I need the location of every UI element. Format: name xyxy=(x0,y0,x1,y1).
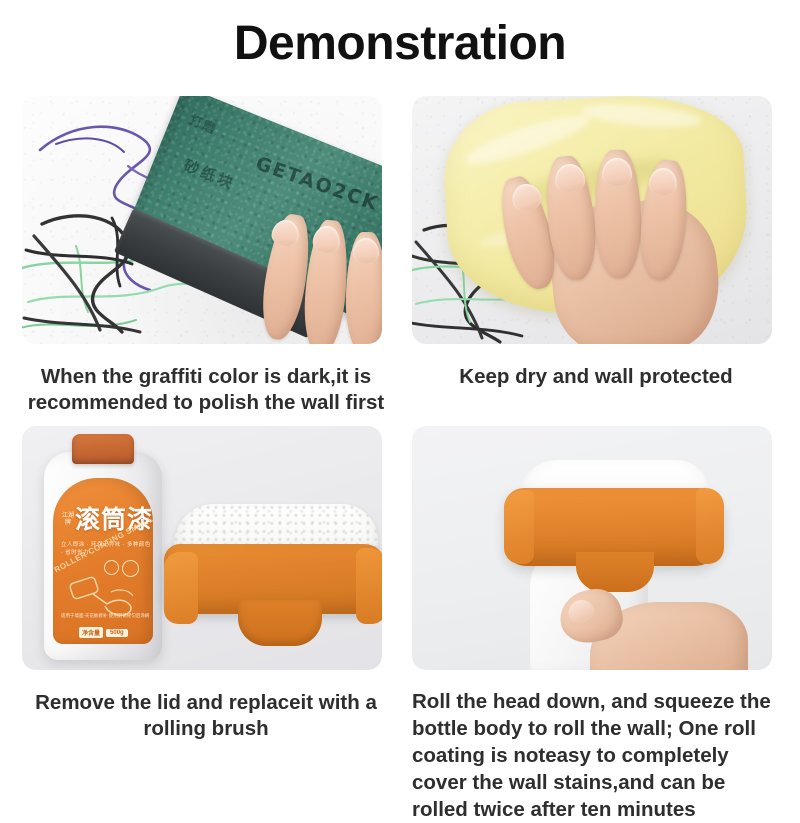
step-caption: Keep dry and wall protected xyxy=(412,364,780,390)
demonstration-page: Demonstration xyxy=(0,0,800,800)
hand-wiping xyxy=(500,140,750,344)
step-card-keep-dry: Keep dry and wall protected xyxy=(412,96,780,390)
page-title: Demonstration xyxy=(0,14,800,74)
label-weight-value: 500g xyxy=(106,629,128,637)
label-brand-small: 江湖牌 xyxy=(60,512,76,526)
roller-frame-lip-left xyxy=(504,490,534,564)
hand-holding-block xyxy=(244,214,382,344)
label-badge-icon xyxy=(104,560,119,575)
roller-brush-head xyxy=(164,504,382,652)
roller-frame-lip-left xyxy=(164,552,198,624)
cloth-fold xyxy=(581,100,702,130)
steps-grid: GETAO2CK 砂纸块 HS 5 打磨 When the graff xyxy=(0,96,800,796)
roller-frame-lip-right xyxy=(696,488,724,564)
bottle-cap xyxy=(72,434,134,464)
label-weight-tag: 净含量 xyxy=(79,627,103,638)
roller-neck-connector xyxy=(238,600,322,646)
step-card-replace-lid: 江湖牌 滚筒漆 立人即涂 · 环保无异味 · 多种颜色 · 省时省力 ROLLE… xyxy=(22,426,390,742)
label-roller-illustration xyxy=(67,574,143,618)
bottle-label: 江湖牌 滚筒漆 立人即涂 · 环保无异味 · 多种颜色 · 省时省力 ROLLE… xyxy=(53,478,153,644)
step-card-polish-wall: GETAO2CK 砂纸块 HS 5 打磨 When the graff xyxy=(22,96,390,416)
fingernail xyxy=(353,238,379,263)
roller-frame-lip-right xyxy=(356,548,382,624)
photo-hand-wiping-wall-with-cloth xyxy=(412,96,772,344)
paint-bottle: 江湖牌 滚筒漆 立人即涂 · 环保无异味 · 多种颜色 · 省时省力 ROLLE… xyxy=(44,434,162,660)
photo-sanding-block-on-graffiti-wall: GETAO2CK 砂纸块 HS 5 打磨 xyxy=(22,96,382,344)
label-badge-icon xyxy=(122,560,139,577)
photo-rolling-paint-on-wall xyxy=(412,426,772,670)
label-weight: 净含量 500g xyxy=(79,627,128,638)
hand-squeezing-bottle xyxy=(560,584,750,670)
step-caption: When the graffiti color is dark,it is re… xyxy=(22,364,390,416)
step-card-roll-wall: Roll the head down, and squeeze the bott… xyxy=(412,426,780,823)
photo-paint-bottle-and-roller-head: 江湖牌 滚筒漆 立人即涂 · 环保无异味 · 多种颜色 · 省时省力 ROLLE… xyxy=(22,426,382,670)
roller-brush-head xyxy=(504,460,724,592)
label-fine-print: 适用于墙面·天花板修补 使用前请摇匀后涂刷 xyxy=(61,614,149,620)
step-caption: Remove the lid and replaceit with a roll… xyxy=(22,690,390,742)
step-caption: Roll the head down, and squeeze the bott… xyxy=(412,688,780,823)
